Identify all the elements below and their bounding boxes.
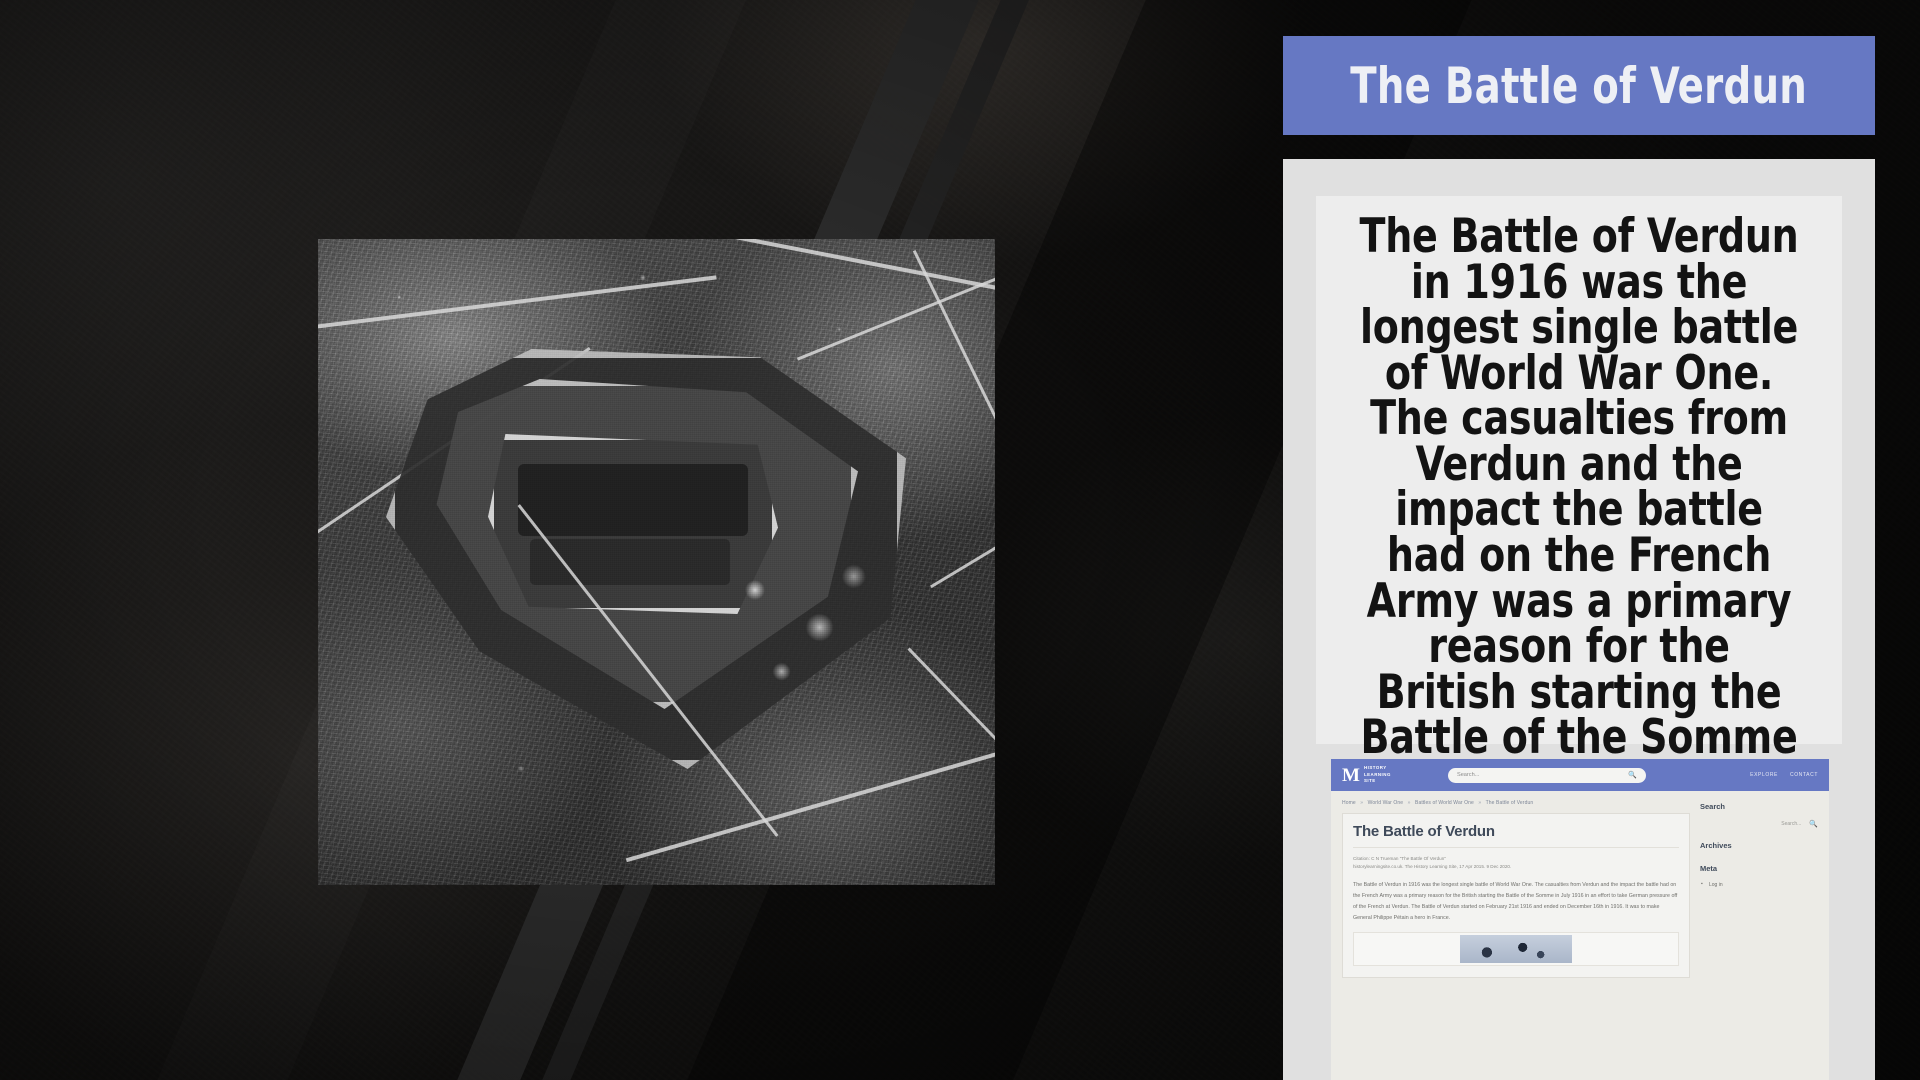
quote-card: The Battle of Verdun in 1916 was the lon… (1316, 196, 1842, 744)
nav-item-explore[interactable]: EXPLORE (1750, 772, 1778, 778)
sidebar-search-box[interactable]: Search... 🔍 (1700, 820, 1818, 828)
article-figure (1353, 932, 1679, 966)
site-search-box[interactable]: Search... 🔍 (1448, 768, 1646, 783)
article-title: The Battle of Verdun (1353, 823, 1679, 848)
breadcrumb: Home » World War One » Battles of World … (1342, 800, 1690, 806)
site-search-input[interactable]: Search... (1457, 772, 1628, 778)
sidebar-search-input[interactable]: Search... (1781, 821, 1801, 827)
citation-line-2: historylearningsite.co.uk. The History L… (1353, 863, 1679, 871)
site-logo[interactable]: M HISTORY LEARNING SITE (1342, 765, 1391, 784)
citation-line-1: Citation: C N Trueman "The Battle Of Ver… (1353, 855, 1679, 863)
meta-item-log-in[interactable]: Log in (1709, 882, 1818, 888)
article-paragraph: The Battle of Verdun in 1916 was the lon… (1353, 880, 1679, 923)
soldiers-photograph (1460, 935, 1572, 963)
page-title: The Battle of Verdun (1351, 57, 1808, 115)
nav-item-contact[interactable]: CONTACT (1790, 772, 1818, 778)
breadcrumb-item-battles[interactable]: Battles of World War One (1415, 800, 1474, 806)
breadcrumb-separator: » (1478, 800, 1481, 806)
aerial-photograph-of-fort (318, 239, 995, 885)
content-panel: The Battle of Verdun in 1916 was the lon… (1283, 159, 1875, 1080)
photo-grain-overlay (318, 239, 995, 885)
breadcrumb-item-current: The Battle of Verdun (1486, 800, 1534, 806)
embedded-page-body: Home » World War One » Battles of World … (1331, 791, 1829, 978)
breadcrumb-item-world-war-one[interactable]: World War One (1368, 800, 1403, 806)
article-citation: Citation: C N Trueman "The Battle Of Ver… (1353, 855, 1679, 871)
search-icon[interactable]: 🔍 (1628, 771, 1637, 779)
breadcrumb-separator: » (1360, 800, 1363, 806)
sidebar-meta-list: Log in (1700, 882, 1818, 888)
article-body: The Battle of Verdun in 1916 was the lon… (1353, 880, 1679, 923)
site-nav: EXPLORE CONTACT (1750, 772, 1818, 778)
embedded-main-column: Home » World War One » Battles of World … (1342, 800, 1690, 978)
embedded-webpage-screenshot: M HISTORY LEARNING SITE Search... 🔍 EXPL… (1331, 759, 1829, 1080)
slide-title-banner: The Battle of Verdun (1283, 36, 1875, 135)
logo-wordmark: HISTORY LEARNING SITE (1364, 765, 1391, 784)
article-card: The Battle of Verdun Citation: C N Truem… (1342, 813, 1690, 978)
embedded-site-header: M HISTORY LEARNING SITE Search... 🔍 EXPL… (1331, 759, 1829, 791)
search-icon[interactable]: 🔍 (1809, 820, 1818, 828)
breadcrumb-item-home[interactable]: Home (1342, 800, 1356, 806)
breadcrumb-separator: » (1408, 800, 1411, 806)
sidebar-meta-title: Meta (1700, 864, 1818, 873)
logo-mark-icon: M (1342, 766, 1360, 785)
sidebar-archives-title: Archives (1700, 841, 1818, 850)
logo-line-3: SITE (1364, 778, 1391, 784)
embedded-sidebar: Search Search... 🔍 Archives Meta Log in (1700, 800, 1818, 978)
sidebar-search-title: Search (1700, 802, 1818, 811)
